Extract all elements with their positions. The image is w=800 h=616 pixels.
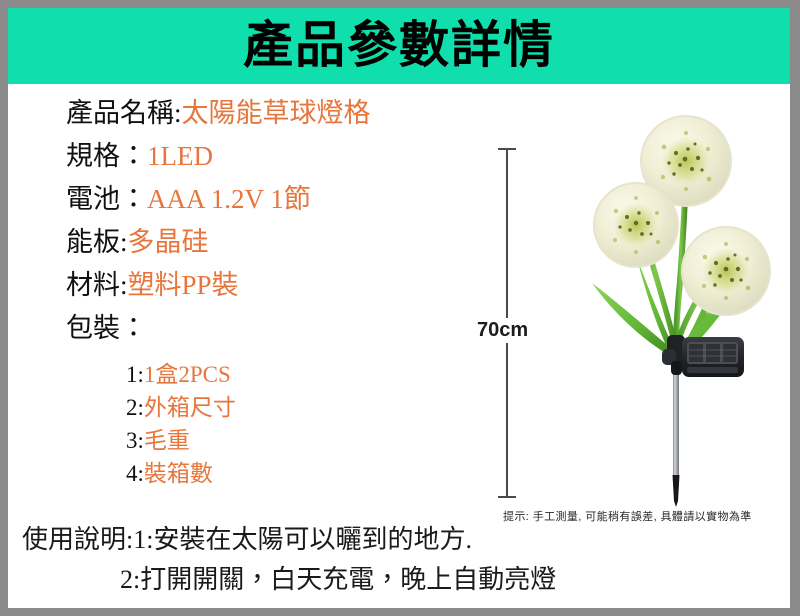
list-item: 1:1盒2PCS	[126, 358, 446, 391]
spec-row-product-name: 產品名稱:太陽能草球燈格	[66, 92, 466, 135]
packing-detail-list: 1:1盒2PCS 2:外箱尺寸 3:毛重 4:裝箱數	[126, 358, 446, 490]
screenshot-root: 產品參數詳情 產品名稱:太陽能草球燈格 規格：1LED 電池：AAA 1.2V …	[0, 0, 800, 616]
spec-value-battery: AAA 1.2V 1節	[147, 184, 311, 214]
list-item: 2:外箱尺寸	[126, 391, 446, 424]
measure-cap-bottom-icon	[498, 496, 516, 498]
spec-label-product-name: 產品名稱:	[66, 98, 182, 128]
page-title: 產品參數詳情	[8, 8, 790, 84]
specification-list: 產品名稱:太陽能草球燈格 規格：1LED 電池：AAA 1.2V 1節 能板:多…	[66, 92, 466, 350]
usage-instructions: 使用說明:1:安裝在太陽可以曬到的地方. 2:打開開關，白天充電，晚上自動亮燈	[22, 520, 622, 600]
spec-label-panel-2: 板:	[93, 227, 128, 257]
spec-label-model-2: 格：	[93, 141, 147, 171]
measurement-label: 70cm	[473, 318, 532, 343]
packing-item-number-4: 4:	[126, 461, 144, 486]
flower-ball-left	[594, 183, 678, 267]
spec-value-material: 塑料PP裝	[128, 270, 239, 300]
list-item: 4:裝箱數	[126, 457, 446, 490]
usage-line-2: 2:打開開關，白天充電，晚上自動亮燈	[22, 560, 622, 600]
solar-panel	[682, 337, 744, 377]
spec-row-battery: 電池：AAA 1.2V 1節	[66, 178, 466, 221]
flower-ball-right	[682, 227, 770, 315]
measurement-disclaimer: 提示: 手工測量, 可能稍有誤差, 具體請以實物為準	[503, 508, 752, 524]
product-spec-card: 產品參數詳情 產品名稱:太陽能草球燈格 規格：1LED 電池：AAA 1.2V …	[8, 8, 790, 608]
spec-row-model: 規格：1LED	[66, 135, 466, 178]
packing-item-number-3: 3:	[126, 428, 144, 453]
spec-label-battery: 電	[66, 184, 93, 214]
list-item: 3:毛重	[126, 424, 446, 457]
packing-item-text-2: 外箱尺寸	[144, 395, 236, 420]
solar-dandelion-light-illustration	[568, 113, 790, 508]
packing-item-text-1: 1盒2PCS	[144, 362, 231, 387]
spec-label-packing-2: 裝：	[93, 313, 147, 343]
spec-label-model: 規	[66, 141, 93, 171]
packing-item-text-4: 裝箱數	[144, 461, 213, 486]
spec-label-panel: 能	[66, 227, 93, 257]
packing-item-number-2: 2:	[126, 395, 144, 420]
spec-value-panel: 多晶硅	[128, 227, 209, 257]
packing-item-number-1: 1:	[126, 362, 144, 387]
spec-row-packing: 包裝：	[66, 307, 466, 350]
measure-cap-top-icon	[498, 148, 516, 150]
spec-row-material: 材料:塑料PP裝	[66, 264, 466, 307]
spec-label-battery-2: 池：	[93, 184, 147, 214]
usage-line-1: 使用說明:1:安裝在太陽可以曬到的地方.	[22, 520, 622, 560]
spec-label-material-2: 料:	[93, 270, 128, 300]
spec-row-panel: 能板:多晶硅	[66, 221, 466, 264]
product-image	[568, 113, 790, 508]
spec-value-model: 1LED	[147, 141, 213, 171]
spec-label-packing: 包	[66, 313, 93, 343]
spec-label-material: 材	[66, 270, 93, 300]
packing-item-text-3: 毛重	[144, 428, 190, 453]
spec-value-product-name: 太陽能草球燈格	[182, 98, 371, 128]
header-banner: 產品參數詳情	[8, 8, 790, 84]
